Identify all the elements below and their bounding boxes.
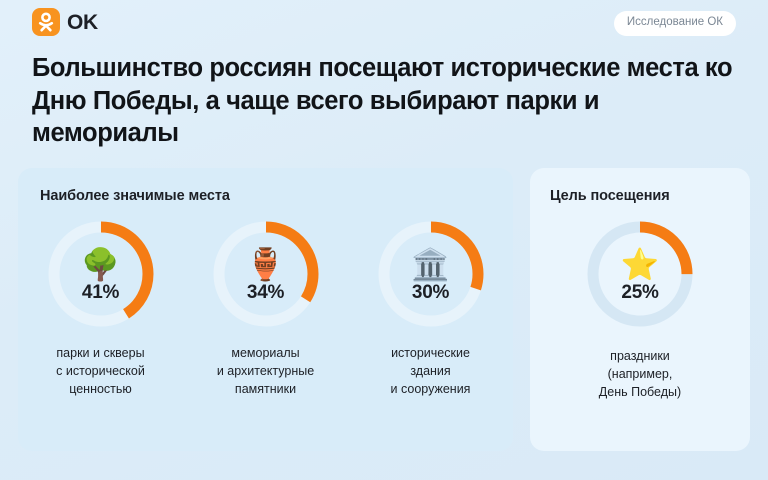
brand-name: OK (67, 12, 98, 33)
cards-container: Наиболее значимые места 🌳 41% парки и ск… (18, 168, 750, 451)
stat-item: ⭐ 25% праздники (например, День Победы) (550, 220, 730, 401)
donut-chart: ⭐ 25% (586, 220, 694, 328)
stat-label: парки и скверы с исторической ценностью (56, 345, 145, 398)
donut-chart: 🌳 41% (47, 220, 155, 328)
stat-label: исторические здания и сооружения (391, 345, 471, 398)
donut-value: 41% (82, 283, 119, 302)
amphora-emoji-icon: 🏺 (246, 246, 285, 282)
donut-chart: 🏛️ 30% (377, 220, 485, 328)
stat-item: 🏺 34% мемориалы и архитектурные памятник… (190, 220, 342, 398)
stat-label: мемориалы и архитектурные памятники (217, 345, 314, 398)
research-badge[interactable]: Исследование ОК (614, 11, 736, 36)
stat-item: 🌳 41% парки и скверы с исторической ценн… (25, 220, 177, 398)
donut-value: 30% (412, 283, 449, 302)
page-header: OK Исследование ОК (0, 0, 768, 48)
card-title: Наиболее значимые места (40, 188, 230, 204)
star-emoji-icon: ⭐ (621, 246, 660, 282)
odnoklassniki-logo-icon (32, 8, 60, 36)
donut-chart: 🏺 34% (212, 220, 320, 328)
stats-row: ⭐ 25% праздники (например, День Победы) (530, 220, 750, 401)
stats-row: 🌳 41% парки и скверы с исторической ценн… (18, 220, 513, 398)
card-visit-purpose: Цель посещения ⭐ 25% праздники (например… (530, 168, 750, 451)
card-significant-places: Наиболее значимые места 🌳 41% парки и ск… (18, 168, 513, 451)
tree-emoji-icon: 🌳 (81, 246, 120, 282)
card-title: Цель посещения (550, 188, 670, 204)
page-title: Большинство россиян посещают исторически… (32, 52, 744, 150)
stat-label: праздники (например, День Победы) (599, 348, 681, 401)
brand-logo[interactable]: OK (32, 8, 98, 36)
classical-building-emoji-icon: 🏛️ (411, 246, 450, 282)
stat-item: 🏛️ 30% исторические здания и сооружения (355, 220, 507, 398)
donut-value: 25% (621, 283, 658, 302)
donut-value: 34% (247, 283, 284, 302)
